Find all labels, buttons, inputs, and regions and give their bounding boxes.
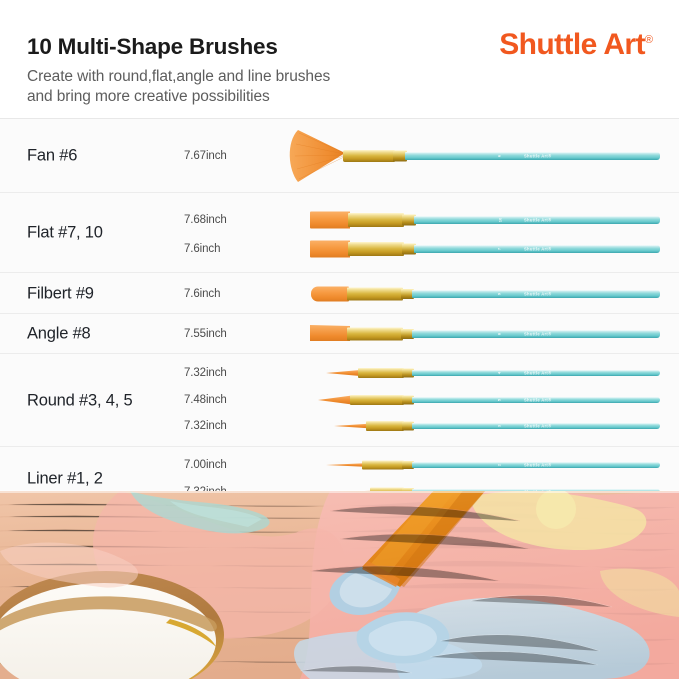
brand-logo-text: Shuttle Art	[499, 28, 645, 61]
page-subtitle: Create with round,flat,angle and line br…	[27, 67, 330, 106]
brush-handle-number: 2	[497, 464, 502, 466]
brush-handle-number: 7	[497, 248, 502, 250]
brush-handle-brand: Shuttle Art®	[524, 218, 551, 223]
brush-illustration-round: 5Shuttle Art®	[0, 387, 679, 413]
brush-handle-brand: Shuttle Art®	[524, 332, 551, 337]
registered-trademark-icon: ®	[645, 34, 653, 46]
brush-handle-brand: Shuttle Art®	[524, 398, 551, 403]
brush-illustration-liner: 2Shuttle Art®	[0, 452, 679, 478]
brush-ferrule	[358, 368, 404, 378]
brush-illustration-round: 3Shuttle Art®	[0, 413, 679, 439]
brush-handle-number: 4	[497, 372, 502, 374]
product-photo	[0, 491, 679, 679]
table-row: Round #3, 4, 57.32inch7.48inch7.32inch4S…	[0, 353, 679, 446]
brush-illustration-flat: 7Shuttle Art®	[0, 236, 679, 262]
brush-ferrule	[343, 150, 395, 162]
brush-handle-brand: Shuttle Art®	[524, 424, 551, 429]
page-title: 10 Multi-Shape Brushes	[27, 34, 278, 60]
brush-illustration-round: 4Shuttle Art®	[0, 360, 679, 386]
brush-ferrule	[350, 395, 404, 405]
brush-illustration-angle: 8Shuttle Art®	[0, 321, 679, 347]
brush-ferrule	[348, 242, 404, 256]
brush-ferrule	[347, 288, 403, 301]
brush-handle-number: 8	[497, 333, 502, 335]
brush-handle-brand: Shuttle Art®	[524, 154, 551, 159]
brush-illustration-fan: 6Shuttle Art®	[0, 143, 679, 169]
brush-handle-number: 3	[497, 425, 502, 427]
brush-handle-number: 9	[497, 293, 502, 295]
table-row: Fan #67.67inch6Shuttle Art®	[0, 118, 679, 192]
brush-ferrule	[347, 328, 403, 341]
brush-ferrule	[366, 421, 404, 431]
brush-handle-brand: Shuttle Art®	[524, 247, 551, 252]
brush-handle-number: 10	[498, 218, 503, 222]
brush-handle-brand: Shuttle Art®	[524, 371, 551, 376]
table-row: Angle #87.55inch8Shuttle Art®	[0, 313, 679, 353]
brush-bristles	[311, 287, 349, 302]
brush-bristles	[310, 241, 350, 258]
brush-illustration-flat: 10Shuttle Art®	[0, 207, 679, 233]
brush-handle-number: 6	[497, 155, 502, 157]
brush-handle-brand: Shuttle Art®	[524, 463, 551, 468]
table-row: Flat #7, 107.68inch7.6inch10Shuttle Art®…	[0, 192, 679, 272]
brush-spec-table: Fan #67.67inch6Shuttle Art®Flat #7, 107.…	[0, 118, 679, 490]
header: 10 Multi-Shape Brushes Create with round…	[0, 0, 679, 118]
brand-logo: Shuttle Art®	[499, 28, 653, 62]
brush-ferrule	[362, 461, 404, 470]
brush-illustration-filbert: 9Shuttle Art®	[0, 281, 679, 307]
brush-ferrule	[348, 213, 404, 227]
brush-handle-brand: Shuttle Art®	[524, 292, 551, 297]
brush-handle-number: 5	[497, 399, 502, 401]
product-infographic: 10 Multi-Shape Brushes Create with round…	[0, 0, 679, 679]
brush-bristles	[310, 212, 350, 229]
table-row: Filbert #97.6inch9Shuttle Art®	[0, 272, 679, 313]
